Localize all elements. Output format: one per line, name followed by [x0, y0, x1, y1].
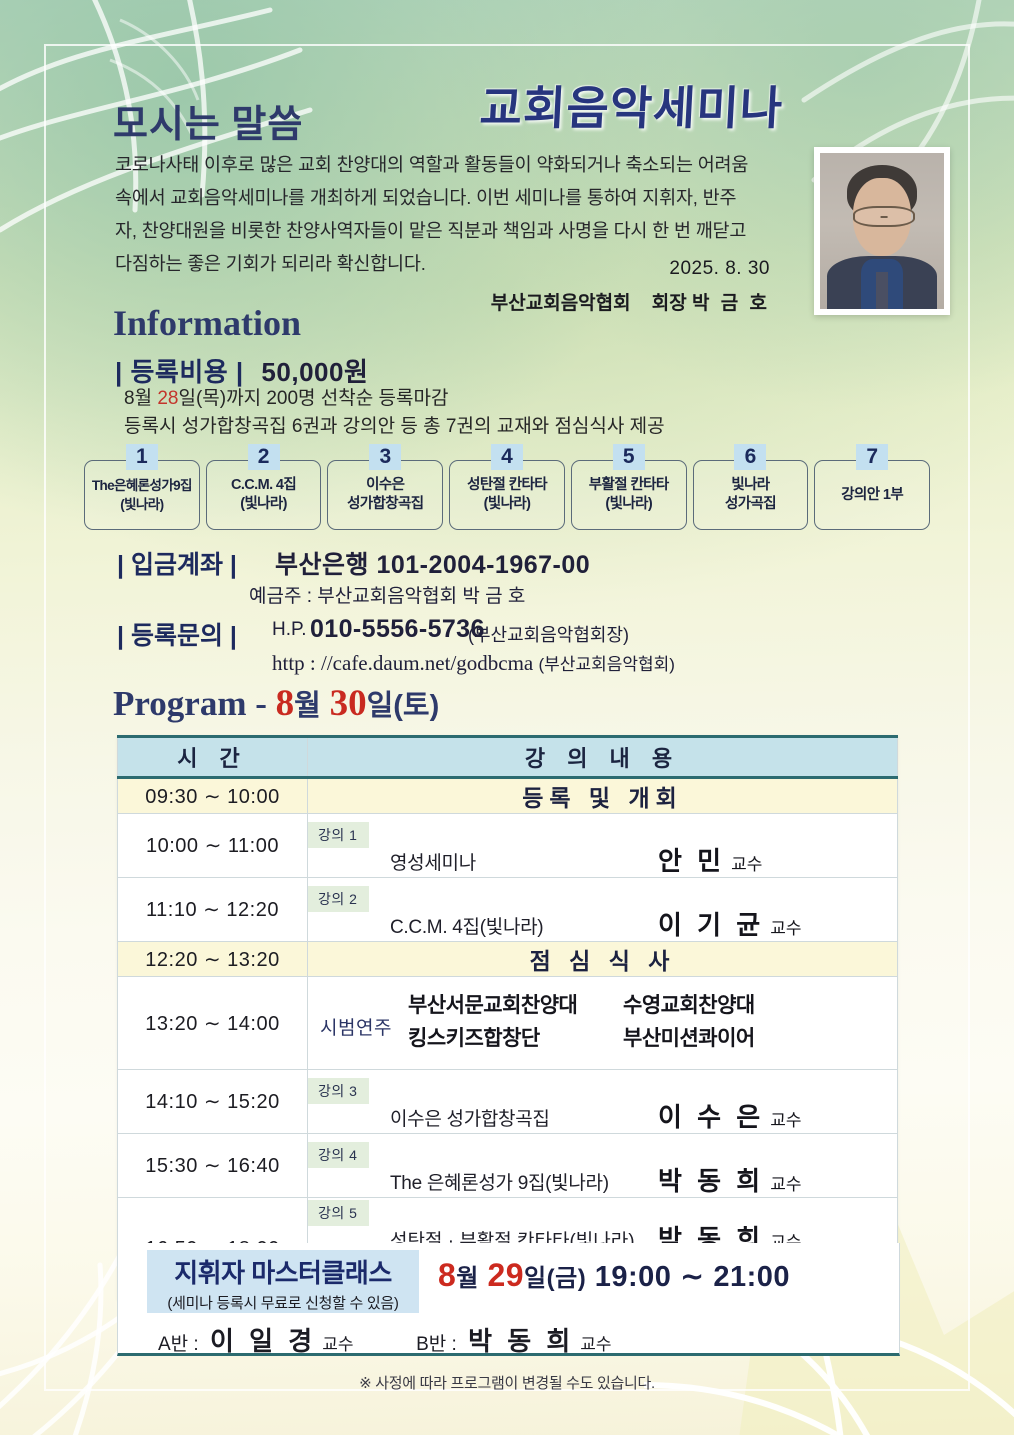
demo-group: 부산서문교회찬양대 [408, 989, 623, 1022]
masterclass-subtitle: (세미나 등록시 무료로 신청할 수 있음) [147, 1292, 419, 1313]
book-number: 1 [126, 444, 158, 470]
lecture-professor: 이 기 균교수 [658, 905, 802, 942]
bank-label: | 입금계좌 | [117, 545, 237, 581]
signature-role: 회장 [652, 293, 687, 314]
masterclass-box: 지휘자 마스터클래스 (세미나 등록시 무료로 신청할 수 있음) [147, 1250, 419, 1313]
row-time: 09:30 ∼ 10:00 [118, 778, 308, 814]
greeting-heading: 모시는 말씀 [113, 93, 303, 148]
masterclass-section: 지휘자 마스터클래스 (세미나 등록시 무료로 신청할 수 있음) 8월 29일… [117, 1243, 900, 1356]
class-a-label: A반 : [158, 1334, 199, 1355]
deadline-day: 28 [157, 388, 178, 409]
book-number: 6 [734, 444, 766, 470]
deadline-note: 8월 28일(목)까지 200명 선착순 등록마감 [124, 383, 448, 410]
lecture-badge: 강의 4 [308, 1142, 369, 1168]
book-number: 5 [613, 444, 645, 470]
demo-label: 시범연주 [320, 1013, 392, 1040]
lecture-badge: 강의 5 [308, 1200, 369, 1226]
table-row: 12:20 ∼ 13:20 점 심 식 사 [118, 942, 898, 977]
book-number: 4 [491, 444, 523, 470]
book-title-line1: 빛나라 [731, 477, 769, 493]
professor-suffix: 교수 [770, 1111, 801, 1130]
footnote: ※ 사정에 따라 프로그램이 변경될 수도 있습니다. [0, 1372, 1014, 1393]
row-content: 시범연주 부산서문교회찬양대수영교회찬양대 킹스키즈합창단부산미션콰이어 [308, 977, 898, 1070]
lecture-badge: 강의 1 [308, 822, 369, 848]
masterclass-classes: A반 : 이 일 경교수 B반 : 박 동 희교수 [158, 1321, 612, 1358]
row-time: 12:20 ∼ 13:20 [118, 942, 308, 977]
masterclass-month-unit: 월 [456, 1265, 479, 1292]
program-heading-en: Program - [113, 684, 267, 723]
demo-group: 부산미션콰이어 [623, 1022, 755, 1055]
book-item: 3 이수은성가합창곡집 [327, 460, 443, 530]
lecture-professor: 안 민교수 [658, 841, 762, 878]
president-photo [814, 147, 950, 315]
masterclass-datetime: 8월 29일(금) 19:00 ∼ 21:00 [438, 1257, 790, 1294]
book-title-line1: 부활절 칸타타 [589, 477, 669, 493]
professor-suffix: 교수 [770, 1175, 801, 1194]
row-title: 등록 및 개회 [308, 778, 898, 814]
table-row: 11:10 ∼ 12:20 강의 2 C.C.M. 4집(빛나라) 이 기 균교… [118, 878, 898, 942]
book-number: 3 [369, 444, 401, 470]
book-title-line2: (빛나라) [605, 496, 652, 512]
lecture-badge: 강의 2 [308, 886, 369, 912]
lecture-topic: The 은혜론성가 9집(빛나라) [390, 1168, 609, 1195]
program-table: 시 간 강 의 내 용 09:30 ∼ 10:00 등록 및 개회 10:00 … [117, 735, 898, 1300]
program-heading: Program - 8월 30일(토) [113, 682, 439, 725]
class-a-suffix: 교수 [322, 1335, 353, 1354]
row-content: 강의 2 C.C.M. 4집(빛나라) 이 기 균교수 [308, 878, 898, 942]
book-title-line1: C.C.M. 4집 [231, 477, 296, 493]
page-title: 교회음악세미나 [478, 72, 785, 138]
book-title-line1: 이수은 [366, 477, 404, 493]
row-time: 10:00 ∼ 11:00 [118, 814, 308, 878]
bank-account: 부산은행 101-2004-1967-00 [275, 545, 590, 581]
row-content: 강의 1 영성세미나 안 민교수 [308, 814, 898, 878]
contact-phone[interactable]: 010-5556-5736 [310, 615, 485, 644]
information-heading: Information [113, 302, 301, 344]
masterclass-day: 29 [487, 1257, 524, 1293]
row-time: 11:10 ∼ 12:20 [118, 878, 308, 942]
program-day-unit: 일(토) [367, 690, 440, 722]
book-title-line2: 성가곡집 [725, 496, 776, 512]
book-title-line1: The은혜론성가9집 [92, 478, 192, 493]
row-time: 13:20 ∼ 14:00 [118, 977, 308, 1070]
table-row: 15:30 ∼ 16:40 강의 4 The 은혜론성가 9집(빛나라) 박 동… [118, 1134, 898, 1198]
program-day: 30 [330, 683, 367, 724]
book-item: 5 부활절 칸타타(빛나라) [571, 460, 687, 530]
table-header-row: 시 간 강 의 내 용 [118, 737, 898, 778]
row-time: 14:10 ∼ 15:20 [118, 1070, 308, 1134]
book-item: 7 강의안 1부 [814, 460, 930, 530]
demo-group: 수영교회찬양대 [623, 989, 755, 1022]
lecture-professor: 이 수 은교수 [658, 1097, 802, 1134]
book-item: 6 빛나라성가곡집 [693, 460, 809, 530]
book-title-line2: (빛나라) [484, 496, 531, 512]
bank-holder: 예금주 : 부산교회음악협회 박 금 호 [249, 581, 525, 608]
cafe-url[interactable]: http : //cafe.daum.net/godbcma [272, 651, 533, 675]
lecture-badge: 강의 3 [308, 1078, 369, 1104]
contact-url-row[interactable]: http : //cafe.daum.net/godbcma (부산교회음악협회… [272, 650, 675, 676]
row-content: 강의 3 이수은 성가합창곡집 이 수 은교수 [308, 1070, 898, 1134]
masterclass-day-unit: 일(금) [524, 1265, 586, 1292]
table-row: 16:50 ∼ 18:00 강의 5 성탄절 · 부활절 칸타타(빛나라) 박 … [118, 1198, 898, 1249]
masterclass-title: 지휘자 마스터클래스 [147, 1253, 419, 1290]
masterclass-time: 19:00 ∼ 21:00 [595, 1261, 790, 1293]
demo-groups: 부산서문교회찬양대수영교회찬양대 킹스키즈합창단부산미션콰이어 [408, 989, 828, 1055]
table-row: 13:20 ∼ 14:00 시범연주 부산서문교회찬양대수영교회찬양대 킹스키즈… [118, 977, 898, 1070]
class-b-suffix: 교수 [580, 1335, 611, 1354]
book-title-line1: 성탄절 칸타타 [467, 477, 547, 493]
signature-date: 2025. 8. 30 [360, 258, 770, 280]
row-content: 강의 5 성탄절 · 부활절 칸타타(빛나라) 박 동 희교수 [308, 1198, 898, 1249]
col-header-time: 시 간 [118, 737, 308, 778]
deadline-month: 8월 [124, 388, 152, 409]
poster-root: 모시는 말씀 교회음악세미나 코로나사태 이후로 많은 교회 찬양대의 역할과 … [0, 0, 1014, 1435]
program-month: 8 [276, 683, 295, 724]
book-title-line2: 성가합창곡집 [347, 496, 423, 512]
contact-label: | 등록문의 | [117, 616, 237, 652]
demo-group: 킹스키즈합창단 [408, 1022, 623, 1055]
program-month-unit: 월 [294, 690, 321, 722]
book-title-line2: (빛나라) [120, 497, 163, 512]
book-number: 2 [248, 444, 280, 470]
book-item: 1 The은혜론성가9집(빛나라) [84, 460, 200, 530]
class-b-name: 박 동 희 [468, 1326, 574, 1356]
cafe-url-org: (부산교회음악협회) [539, 655, 675, 674]
lecture-topic: 영성세미나 [390, 848, 476, 875]
professor-suffix: 교수 [731, 855, 762, 874]
book-item: 4 성탄절 칸타타(빛나라) [449, 460, 565, 530]
row-time: 15:30 ∼ 16:40 [118, 1134, 308, 1198]
book-title-line2: (빛나라) [240, 496, 287, 512]
book-title-line1: 강의안 1부 [841, 487, 903, 503]
lecture-topic: C.C.M. 4집(빛나라) [390, 912, 543, 939]
materials-note: 등록시 성가합창곡집 6권과 강의안 등 총 7권의 교재와 점심식사 제공 [124, 411, 665, 438]
class-a-name: 이 일 경 [210, 1326, 316, 1356]
contact-hp-prefix: H.P. [272, 619, 307, 641]
row-content: 강의 4 The 은혜론성가 9집(빛나라) 박 동 희교수 [308, 1134, 898, 1198]
row-title: 점 심 식 사 [308, 942, 898, 977]
table-row: 14:10 ∼ 15:20 강의 3 이수은 성가합창곡집 이 수 은교수 [118, 1070, 898, 1134]
table-row: 09:30 ∼ 10:00 등록 및 개회 [118, 778, 898, 814]
book-item: 2 C.C.M. 4집(빛나라) [206, 460, 322, 530]
signature-name: 박 금 호 [692, 293, 770, 314]
lecture-professor: 박 동 희교수 [658, 1161, 802, 1198]
book-list: 1 The은혜론성가9집(빛나라) 2 C.C.M. 4집(빛나라) 3 이수은… [84, 460, 930, 530]
table-row: 10:00 ∼ 11:00 강의 1 영성세미나 안 민교수 [118, 814, 898, 878]
masterclass-month: 8 [438, 1257, 456, 1293]
deadline-rest: 일(목)까지 200명 선착순 등록마감 [178, 388, 448, 409]
book-number: 7 [856, 444, 888, 470]
contact-role: (부산교회음악협회장) [468, 621, 629, 647]
lecture-topic: 이수은 성가합창곡집 [390, 1104, 550, 1131]
professor-suffix: 교수 [770, 919, 801, 938]
signature-block: 부산교회음악협회 회장 박 금 호 [360, 288, 770, 315]
class-b-label: B반 : [416, 1334, 457, 1355]
col-header-content: 강 의 내 용 [308, 737, 898, 778]
signature-org: 부산교회음악협회 [491, 293, 631, 314]
